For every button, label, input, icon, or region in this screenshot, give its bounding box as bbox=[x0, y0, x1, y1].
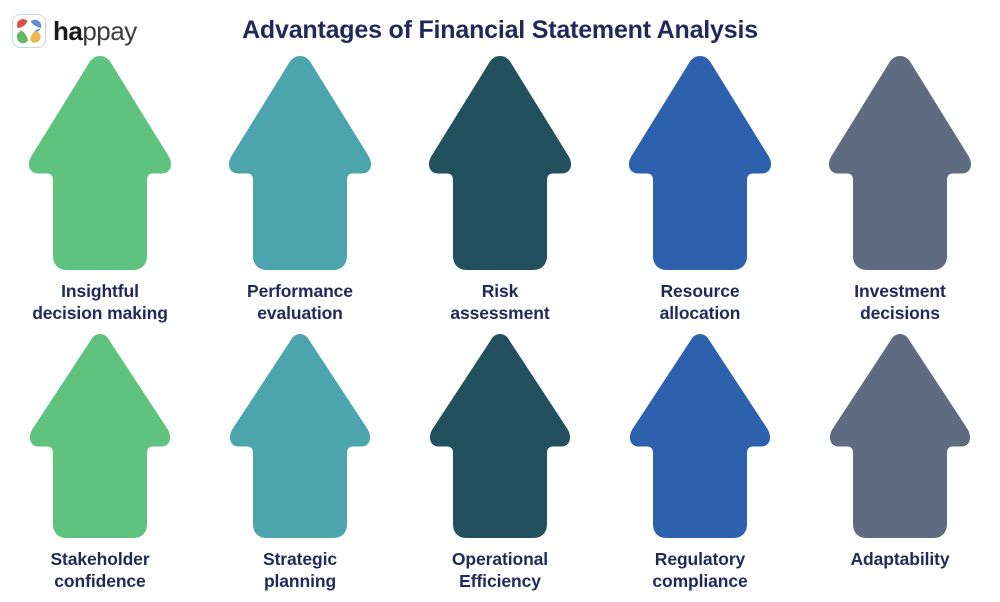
arrow-card-label: Regulatory compliance bbox=[652, 548, 747, 593]
label-line-1: Insightful bbox=[32, 280, 168, 302]
arrow-card-strategic-planning: Strategic planning bbox=[200, 330, 400, 602]
arrow-card-label: Stakeholder confidence bbox=[50, 548, 149, 593]
arrow-card-regulatory-compliance: Regulatory compliance bbox=[600, 330, 800, 602]
up-arrow-icon bbox=[825, 330, 975, 542]
label-line-2: decision making bbox=[32, 302, 168, 324]
arrow-card-insightful-decision-making: Insightful decision making bbox=[0, 52, 200, 322]
up-arrow-icon bbox=[25, 330, 175, 542]
arrow-card-label: Investment decisions bbox=[854, 280, 945, 325]
up-arrow-icon bbox=[425, 330, 575, 542]
arrow-card-risk-assessment: Risk assessment bbox=[400, 52, 600, 322]
up-arrow-icon bbox=[625, 330, 775, 542]
arrow-card-label: Operational Efficiency bbox=[452, 548, 548, 593]
up-arrow-icon bbox=[625, 52, 775, 274]
arrow-card-label: Strategic planning bbox=[263, 548, 337, 593]
page-title: Advantages of Financial Statement Analys… bbox=[0, 16, 1000, 45]
arrow-card-stakeholder-confidence: Stakeholder confidence bbox=[0, 330, 200, 602]
label-line-1: Performance bbox=[247, 280, 353, 302]
arrow-card-adaptability: Adaptability bbox=[800, 330, 1000, 602]
arrow-card-label: Adaptability bbox=[851, 548, 950, 570]
label-line-1: Investment bbox=[854, 280, 945, 302]
arrow-row-1: Insightful decision making Performance e… bbox=[0, 52, 1000, 322]
arrow-card-operational-efficiency: Operational Efficiency bbox=[400, 330, 600, 602]
label-line-1: Operational bbox=[452, 548, 548, 570]
arrow-card-label: Risk assessment bbox=[450, 280, 549, 325]
arrow-card-resource-allocation: Resource allocation bbox=[600, 52, 800, 322]
up-arrow-icon bbox=[425, 52, 575, 274]
label-line-1: Adaptability bbox=[851, 548, 950, 570]
label-line-2: allocation bbox=[660, 302, 741, 324]
label-line-1: Resource bbox=[660, 280, 741, 302]
arrow-card-investment-decisions: Investment decisions bbox=[800, 52, 1000, 322]
arrow-card-label: Performance evaluation bbox=[247, 280, 353, 325]
arrow-card-label: Insightful decision making bbox=[32, 280, 168, 325]
label-line-1: Stakeholder bbox=[50, 548, 149, 570]
label-line-2: confidence bbox=[50, 570, 149, 592]
up-arrow-icon bbox=[225, 330, 375, 542]
label-line-2: planning bbox=[263, 570, 337, 592]
up-arrow-icon bbox=[25, 52, 175, 274]
label-line-1: Regulatory bbox=[652, 548, 747, 570]
label-line-1: Strategic bbox=[263, 548, 337, 570]
up-arrow-icon bbox=[225, 52, 375, 274]
arrow-card-performance-evaluation: Performance evaluation bbox=[200, 52, 400, 322]
up-arrow-icon bbox=[825, 52, 975, 274]
label-line-2: assessment bbox=[450, 302, 549, 324]
label-line-1: Risk bbox=[450, 280, 549, 302]
arrow-card-label: Resource allocation bbox=[660, 280, 741, 325]
infographic-canvas: happay Advantages of Financial Statement… bbox=[0, 0, 1000, 602]
label-line-2: Efficiency bbox=[452, 570, 548, 592]
label-line-2: decisions bbox=[854, 302, 945, 324]
arrow-row-2: Stakeholder confidence Strategic plannin… bbox=[0, 330, 1000, 602]
label-line-2: evaluation bbox=[247, 302, 353, 324]
label-line-2: compliance bbox=[652, 570, 747, 592]
